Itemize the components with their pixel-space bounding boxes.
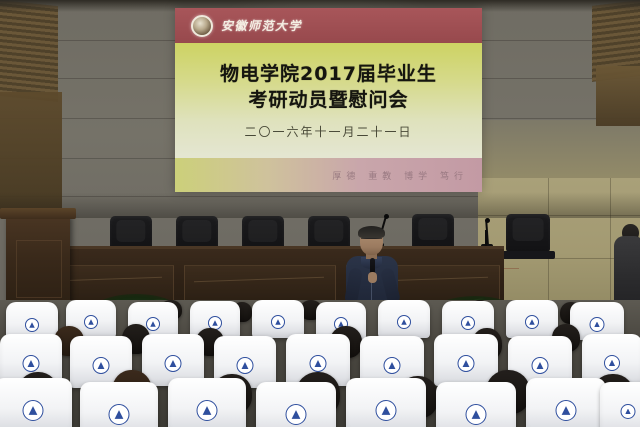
lectern-top bbox=[0, 208, 76, 219]
university-seal-icon bbox=[191, 15, 213, 37]
audience-seat bbox=[378, 300, 430, 338]
audience-seat bbox=[168, 378, 246, 427]
university-emblem-icon bbox=[384, 357, 401, 374]
slide-title-line-2: 考研动员暨慰问会 bbox=[220, 87, 437, 113]
university-emblem-icon bbox=[93, 357, 110, 374]
lectern-front-panel bbox=[16, 240, 62, 298]
university-emblem-icon bbox=[23, 400, 44, 421]
university-emblem-icon bbox=[458, 355, 475, 372]
speaker-glasses bbox=[361, 238, 382, 244]
slide-footer-band: 厚德 重教 博学 笃行 bbox=[175, 158, 482, 192]
chair-backrest bbox=[418, 218, 447, 240]
audience-seat bbox=[506, 300, 558, 338]
university-emblem-icon bbox=[109, 404, 130, 425]
slide-header-band: 安徽师范大学 bbox=[175, 8, 482, 43]
projected-slide: 安徽师范大学 物电学院2017届毕业生 考研动员暨慰问会 二〇一六年十一月二十一… bbox=[175, 8, 482, 192]
microphone-head-icon bbox=[384, 214, 389, 219]
university-emblem-icon bbox=[525, 315, 539, 329]
chair-backrest bbox=[314, 220, 343, 242]
slide-title: 物电学院2017届毕业生 考研动员暨慰问会 bbox=[220, 61, 437, 113]
audience-seat bbox=[256, 382, 336, 427]
university-emblem-icon bbox=[310, 355, 327, 372]
slide-date: 二〇一六年十一月二十一日 bbox=[244, 123, 412, 140]
speaker-hand bbox=[368, 272, 377, 283]
university-name-label: 安徽师范大学 bbox=[221, 17, 302, 34]
audience-seat bbox=[600, 382, 640, 427]
university-emblem-icon bbox=[84, 315, 98, 329]
university-emblem-icon bbox=[461, 316, 475, 330]
university-motto: 厚德 重教 博学 笃行 bbox=[332, 169, 468, 182]
slide-body: 物电学院2017届毕业生 考研动员暨慰问会 二〇一六年十一月二十一日 bbox=[175, 43, 482, 158]
wooden-wall-right bbox=[596, 66, 640, 126]
university-emblem-icon bbox=[556, 400, 577, 421]
university-emblem-icon bbox=[532, 357, 549, 374]
university-emblem-icon bbox=[397, 315, 411, 329]
university-emblem-icon bbox=[590, 317, 605, 332]
university-emblem-icon bbox=[23, 355, 40, 372]
wooden-slat-panel-left bbox=[0, 0, 58, 102]
university-emblem-icon bbox=[25, 318, 39, 332]
university-emblem-icon bbox=[197, 400, 218, 421]
university-emblem-icon bbox=[604, 355, 620, 371]
university-emblem-icon bbox=[376, 400, 397, 421]
stage-chair bbox=[506, 214, 550, 252]
university-emblem-icon bbox=[165, 355, 182, 372]
university-emblem-icon bbox=[237, 357, 254, 374]
university-emblem-icon bbox=[146, 317, 160, 331]
slide-title-line-1: 物电学院2017届毕业生 bbox=[220, 61, 437, 87]
chair-backrest bbox=[116, 220, 145, 242]
audience-seat bbox=[346, 378, 426, 427]
audience-seat bbox=[252, 300, 304, 338]
right-wall-upper bbox=[478, 120, 640, 180]
university-emblem-icon bbox=[466, 404, 487, 425]
microphone-head-icon bbox=[485, 218, 490, 223]
chair-backrest bbox=[248, 220, 277, 242]
screenshot-root: 安徽师范大学 物电学院2017届毕业生 考研动员暨慰问会 二〇一六年十一月二十一… bbox=[0, 0, 640, 427]
university-emblem-icon bbox=[621, 404, 636, 419]
university-emblem-icon bbox=[271, 315, 285, 329]
audience-seat bbox=[526, 378, 606, 427]
university-emblem-icon bbox=[286, 404, 307, 425]
audience-seat bbox=[0, 378, 72, 427]
chair-backrest bbox=[513, 218, 544, 241]
audience-area bbox=[0, 300, 640, 427]
audience-seat bbox=[436, 382, 516, 427]
audience-seat bbox=[80, 382, 158, 427]
audience-seat bbox=[434, 334, 498, 386]
chair-backrest bbox=[182, 220, 211, 242]
